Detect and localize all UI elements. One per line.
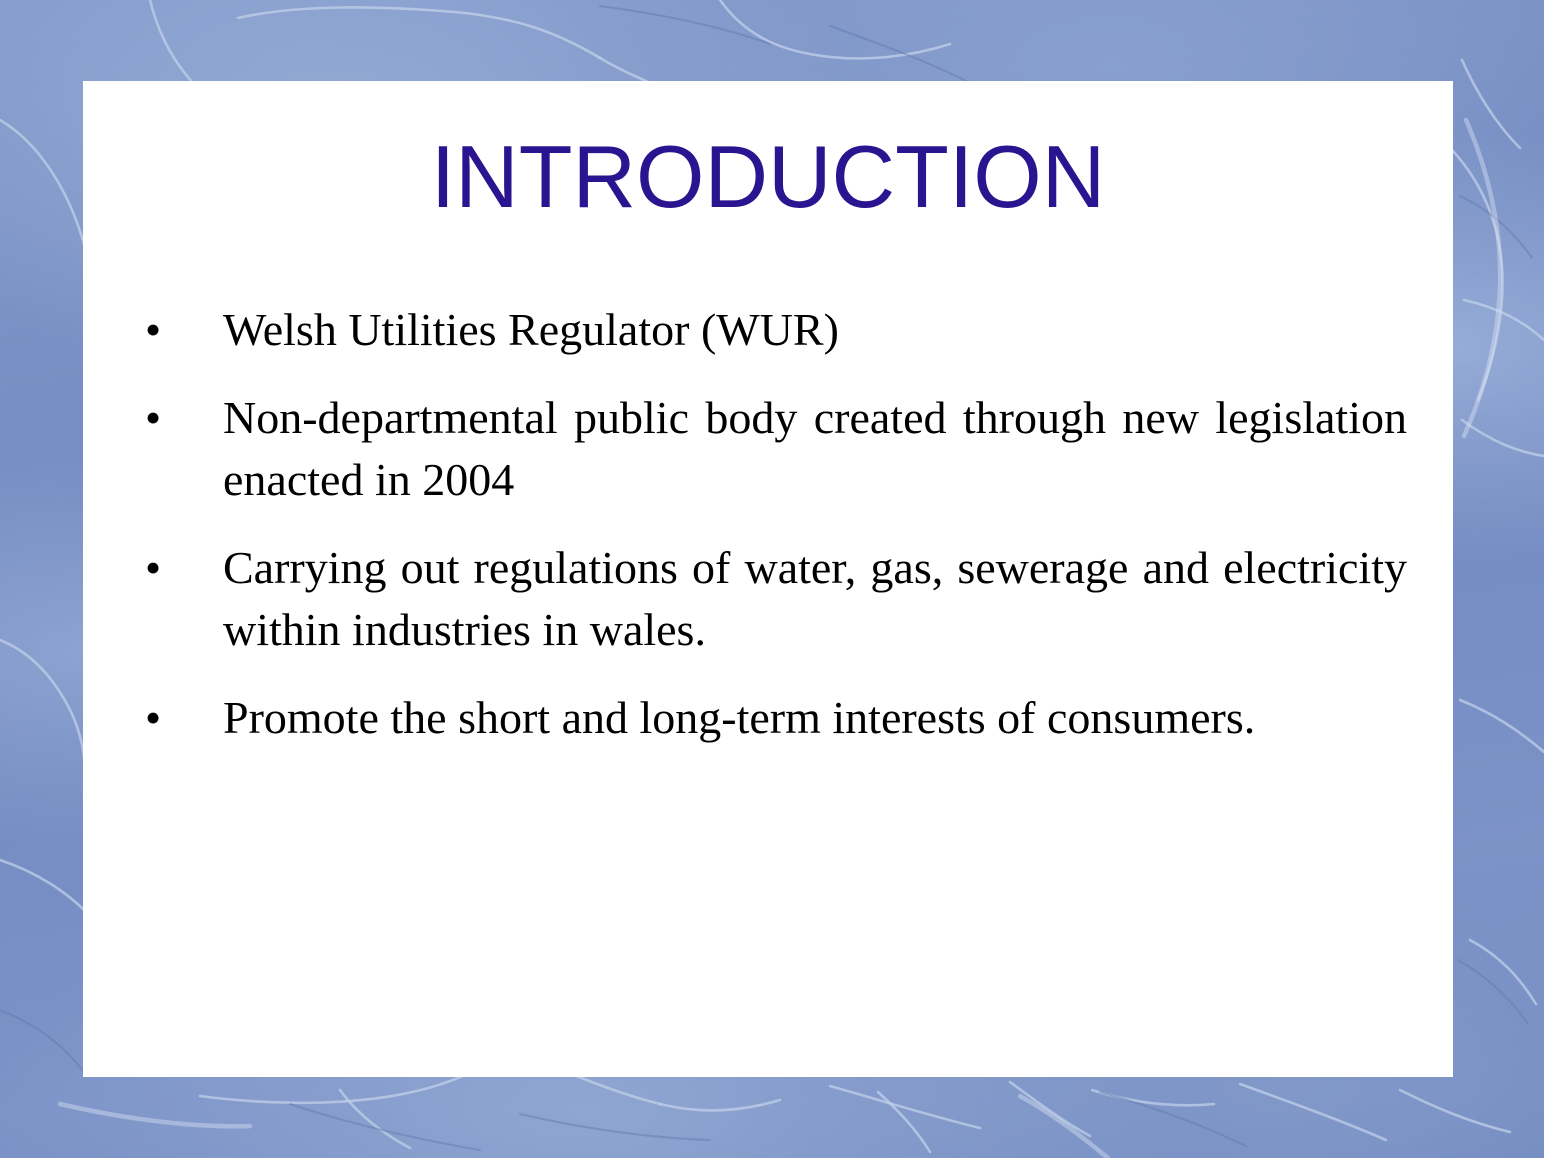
bullet-point-icon: • <box>145 687 223 749</box>
list-item: • Welsh Utilities Regulator (WUR) <box>145 299 1407 361</box>
bullet-point-icon: • <box>145 299 223 361</box>
bullet-text: Non-departmental public body created thr… <box>223 387 1407 511</box>
list-item: • Carrying out regulations of water, gas… <box>145 537 1407 661</box>
slide-content-card: INTRODUCTION • Welsh Utilities Regulator… <box>83 81 1453 1077</box>
list-item: • Non-departmental public body created t… <box>145 387 1407 511</box>
bullet-text: Carrying out regulations of water, gas, … <box>223 537 1407 661</box>
bullet-text: Promote the short and long-term interest… <box>223 687 1407 749</box>
bullet-point-icon: • <box>145 537 223 599</box>
bullet-point-icon: • <box>145 387 223 449</box>
page-title: INTRODUCTION <box>83 133 1453 221</box>
bullet-text: Welsh Utilities Regulator (WUR) <box>223 299 1407 361</box>
presentation-slide: INTRODUCTION • Welsh Utilities Regulator… <box>0 0 1544 1158</box>
list-item: • Promote the short and long-term intere… <box>145 687 1407 749</box>
bullet-list: • Welsh Utilities Regulator (WUR) • Non-… <box>145 299 1407 749</box>
